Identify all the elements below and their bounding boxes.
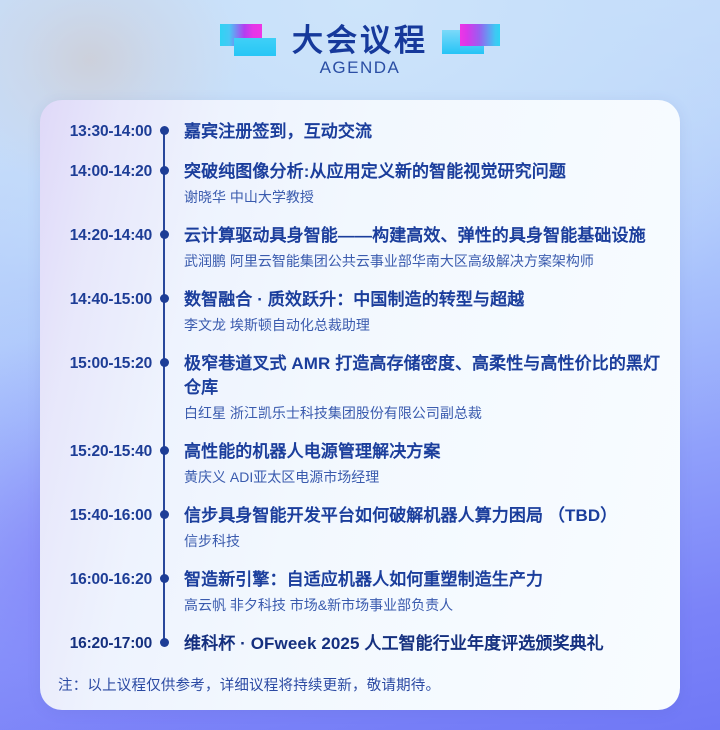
agenda-row: 15:40-16:00信步具身智能开发平台如何破解机器人算力困局 （TBD）信步… <box>40 504 680 552</box>
session-title: 智造新引擎：自适应机器人如何重塑制造生产力 <box>184 568 674 592</box>
page-subtitle: AGENDA <box>0 58 720 78</box>
session-time: 15:00-15:20 <box>40 352 152 374</box>
title-row: 大会议程 <box>0 22 720 58</box>
timeline-dot-cell <box>152 568 176 583</box>
poster-header: 大会议程 AGENDA <box>0 0 720 100</box>
session-time: 16:20-17:00 <box>40 632 152 654</box>
timeline-dot-cell <box>152 352 176 367</box>
session-time: 15:20-15:40 <box>40 440 152 462</box>
timeline-dot-cell <box>152 288 176 303</box>
timeline-dot-icon <box>160 574 169 583</box>
session-body: 智造新引擎：自适应机器人如何重塑制造生产力高云帆 非夕科技 市场&新市场事业部负… <box>176 568 680 616</box>
agenda-poster: 大会议程 AGENDA 13:30-14:00嘉宾注册签到，互动交流14:00-… <box>0 0 720 730</box>
session-body: 高性能的机器人电源管理解决方案黄庆义 ADI亚太区电源市场经理 <box>176 440 680 488</box>
session-title: 极窄巷道叉式 AMR 打造高存储密度、高柔性与高性价比的黑灯仓库 <box>184 352 674 400</box>
session-time: 13:30-14:00 <box>40 120 152 142</box>
timeline-dot-cell <box>152 504 176 519</box>
session-body: 极窄巷道叉式 AMR 打造高存储密度、高柔性与高性价比的黑灯仓库白红星 浙江凯乐… <box>176 352 680 424</box>
session-title: 突破纯图像分析:从应用定义新的智能视觉研究问题 <box>184 160 674 184</box>
agenda-row: 15:00-15:20极窄巷道叉式 AMR 打造高存储密度、高柔性与高性价比的黑… <box>40 352 680 424</box>
session-speaker: 白红星 浙江凯乐士科技集团股份有限公司副总裁 <box>184 403 674 424</box>
agenda-row: 13:30-14:00嘉宾注册签到，互动交流 <box>40 120 680 144</box>
timeline-dot-icon <box>160 126 169 135</box>
gradient-blocks-icon-left <box>220 22 278 58</box>
agenda-list: 13:30-14:00嘉宾注册签到，互动交流14:00-14:20突破纯图像分析… <box>40 100 680 656</box>
session-speaker: 黄庆义 ADI亚太区电源市场经理 <box>184 467 674 488</box>
timeline-dot-icon <box>160 294 169 303</box>
timeline-dot-icon <box>160 358 169 367</box>
agenda-row: 15:20-15:40高性能的机器人电源管理解决方案黄庆义 ADI亚太区电源市场… <box>40 440 680 488</box>
page-title: 大会议程 <box>292 25 428 56</box>
session-title: 信步具身智能开发平台如何破解机器人算力困局 （TBD） <box>184 504 674 528</box>
session-title: 云计算驱动具身智能——构建高效、弹性的具身智能基础设施 <box>184 224 674 248</box>
session-time: 14:40-15:00 <box>40 288 152 310</box>
session-title: 嘉宾注册签到，互动交流 <box>184 120 674 144</box>
session-speaker: 武润鹏 阿里云智能集团公共云事业部华南大区高级解决方案架构师 <box>184 251 674 272</box>
timeline-dot-icon <box>160 166 169 175</box>
session-time: 15:40-16:00 <box>40 504 152 526</box>
agenda-row: 16:00-16:20智造新引擎：自适应机器人如何重塑制造生产力高云帆 非夕科技… <box>40 568 680 616</box>
timeline-dot-icon <box>160 510 169 519</box>
timeline-dot-cell <box>152 120 176 135</box>
gradient-blocks-icon-right <box>442 22 500 58</box>
timeline-dot-cell <box>152 160 176 175</box>
session-body: 维科杯 · OFweek 2025 人工智能行业年度评选颁奖典礼 <box>176 632 680 656</box>
timeline-dot-cell <box>152 224 176 239</box>
session-speaker: 高云帆 非夕科技 市场&新市场事业部负责人 <box>184 595 674 616</box>
agenda-row: 16:20-17:00维科杯 · OFweek 2025 人工智能行业年度评选颁… <box>40 632 680 656</box>
session-time: 16:00-16:20 <box>40 568 152 590</box>
session-time: 14:20-14:40 <box>40 224 152 246</box>
session-title: 数智融合 · 质效跃升：中国制造的转型与超越 <box>184 288 674 312</box>
timeline-dot-cell <box>152 440 176 455</box>
agenda-note: 注：以上议程仅供参考，详细议程将持续更新，敬请期待。 <box>40 676 680 696</box>
agenda-row: 14:40-15:00数智融合 · 质效跃升：中国制造的转型与超越李文龙 埃斯顿… <box>40 288 680 336</box>
session-body: 突破纯图像分析:从应用定义新的智能视觉研究问题谢晓华 中山大学教授 <box>176 160 680 208</box>
timeline-dot-cell <box>152 632 176 647</box>
session-speaker: 谢晓华 中山大学教授 <box>184 187 674 208</box>
agenda-row: 14:00-14:20突破纯图像分析:从应用定义新的智能视觉研究问题谢晓华 中山… <box>40 160 680 208</box>
session-speaker: 李文龙 埃斯顿自动化总裁助理 <box>184 315 674 336</box>
timeline-dot-icon <box>160 638 169 647</box>
session-body: 嘉宾注册签到，互动交流 <box>176 120 680 144</box>
session-time: 14:00-14:20 <box>40 160 152 182</box>
timeline-dot-icon <box>160 446 169 455</box>
session-title: 维科杯 · OFweek 2025 人工智能行业年度评选颁奖典礼 <box>184 632 674 656</box>
session-body: 数智融合 · 质效跃升：中国制造的转型与超越李文龙 埃斯顿自动化总裁助理 <box>176 288 680 336</box>
session-title: 高性能的机器人电源管理解决方案 <box>184 440 674 464</box>
agenda-row: 14:20-14:40云计算驱动具身智能——构建高效、弹性的具身智能基础设施武润… <box>40 224 680 272</box>
session-body: 云计算驱动具身智能——构建高效、弹性的具身智能基础设施武润鹏 阿里云智能集团公共… <box>176 224 680 272</box>
session-body: 信步具身智能开发平台如何破解机器人算力困局 （TBD）信步科技 <box>176 504 680 552</box>
session-speaker: 信步科技 <box>184 531 674 552</box>
timeline-dot-icon <box>160 230 169 239</box>
agenda-card: 13:30-14:00嘉宾注册签到，互动交流14:00-14:20突破纯图像分析… <box>40 100 680 710</box>
